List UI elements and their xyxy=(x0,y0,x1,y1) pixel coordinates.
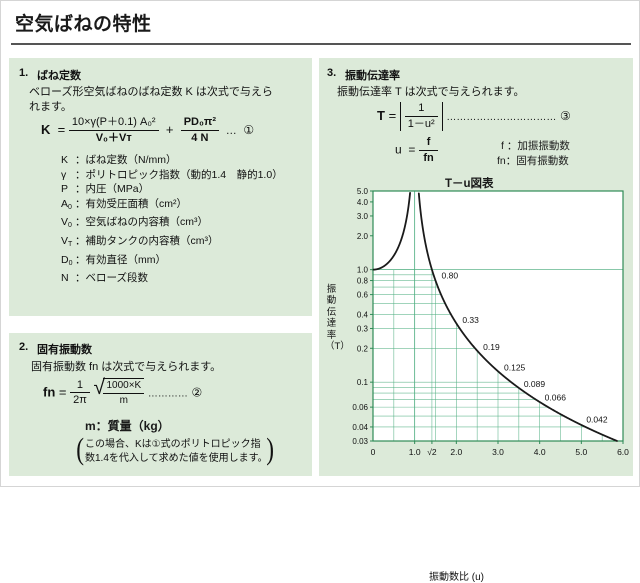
variable-symbol: K xyxy=(61,153,75,168)
chart-x-tick-label: 0 xyxy=(371,447,376,457)
equation-2: fn = 1 2π 1000×K m ………… ② xyxy=(43,378,202,408)
plus-sign: + xyxy=(162,122,177,137)
chart-y-tick-label: 0.06 xyxy=(352,403,368,412)
equation-2-radicand: 1000×K m xyxy=(103,378,144,407)
chart-x-axis-label: 振動数比 (u) xyxy=(429,568,484,583)
chart-x-tick-label: 2.0 xyxy=(450,447,462,457)
variable-definition-item: A0：有効受圧面積（cm²） xyxy=(61,197,283,216)
equation-2-prefactor-numerator: 1 xyxy=(70,379,90,394)
section-2-lead: 固有振動数 fn は次式で与えられます。 xyxy=(31,358,221,374)
variable-description: ：有効受圧面積（cm²） xyxy=(75,198,187,210)
variable-definition-item: D0：有効直径（mm） xyxy=(61,253,283,272)
equation-3-lhs: T xyxy=(377,108,385,123)
variable-description: ：内圧（MPa） xyxy=(75,183,149,195)
chart-annotation-label: 0.089 xyxy=(524,379,546,389)
equation-u-lhs: u xyxy=(395,143,402,157)
variable-symbol: V0 xyxy=(61,215,75,234)
section-1-lead-line1: ベローズ形空気ばねのばね定数 K は次式で与えら xyxy=(29,83,273,99)
chart-y-tick-label: 2.0 xyxy=(357,232,369,241)
note-line2: 数1.4を代入して求めた値を使用します。 xyxy=(85,452,268,465)
section-1-number: 1. xyxy=(19,67,28,79)
variable-symbol: VT xyxy=(61,234,75,253)
equation-3-fraction: 1 1－u² xyxy=(405,102,438,131)
variable-symbol: D0 xyxy=(61,253,75,272)
equation-u-ratio: u = f fn xyxy=(395,136,438,165)
t-u-chart: T－u図表 振動伝達率（T） 振動数比 (u) T = 1 1 − u² 5.0… xyxy=(319,173,633,473)
chart-y-tick-label: 0.03 xyxy=(352,437,368,446)
equation-1-term2-numerator: PD₀π² xyxy=(181,116,219,131)
equation-3-label: ③ xyxy=(560,109,571,123)
chart-y-tick-label: 0.1 xyxy=(357,378,369,387)
equation-2-sqrt-numerator: 1000×K xyxy=(103,380,144,394)
equation-3-absolute-value: 1 1－u² xyxy=(400,102,443,131)
section-spring-constant: 1. ばね定数 ベローズ形空気ばねのばね定数 K は次式で与えら れます。 K … xyxy=(9,58,312,316)
equation-3: T = 1 1－u² …………………………… ③ xyxy=(377,102,571,131)
equation-1-term1-numerator: 10×γ(P＋0.1) A₀² xyxy=(69,116,159,131)
chart-x-tick-label: 4.0 xyxy=(534,447,546,457)
variable-definition-item: N：ベローズ段数 xyxy=(61,271,283,286)
section-3-number: 3. xyxy=(327,67,336,79)
equation-3-dots: …………………………… xyxy=(446,112,556,123)
equation-u-fraction: f fn xyxy=(419,136,439,165)
chart-y-tick-label: 0.2 xyxy=(357,344,369,353)
chart-annotation-label: 0.042 xyxy=(586,415,608,425)
document-page: 空気ばねの特性 1. ばね定数 ベローズ形空気ばねのばね定数 K は次式で与えら… xyxy=(0,0,640,487)
equation-1-term1-denominator: V₀＋Vᴛ xyxy=(69,131,159,145)
variable-definition-item: P：内圧（MPa） xyxy=(61,182,283,197)
equals-sign-2: = xyxy=(59,385,67,400)
chart-x-tick-label: 1.0 xyxy=(409,447,421,457)
definition-f: f ：加振振動数 xyxy=(501,138,570,153)
definition-fn: fn：固有振動数 xyxy=(497,153,569,168)
variable-definition-item: VT：補助タンクの内容積（cm³） xyxy=(61,234,283,253)
chart-x-tick-label: 3.0 xyxy=(492,447,504,457)
chart-canvas: 5.04.03.02.01.00.80.60.40.30.20.10.060.0… xyxy=(319,173,633,473)
note-line1: この場合、Kは①式のポリトロピック指 xyxy=(85,438,261,451)
variable-definition-item: V0：空気ばねの内容積（cm³） xyxy=(61,215,283,234)
section-1-title: ばね定数 xyxy=(37,67,81,83)
variable-description: ：ポリトロピック指数（動的1.4 静的1.0） xyxy=(75,169,283,181)
chart-y-tick-label: 0.8 xyxy=(357,277,369,286)
variable-symbol: γ xyxy=(61,168,75,183)
chart-annotation-label: 0.33 xyxy=(462,315,479,325)
section-3-title: 振動伝達率 xyxy=(345,67,400,83)
equation-u-numerator: f xyxy=(419,136,439,151)
note-paren-left: ( xyxy=(76,433,84,464)
variable-description: ：空気ばねの内容積（cm³） xyxy=(75,216,208,228)
chart-y-tick-label: 4.0 xyxy=(357,198,369,207)
chart-annotation-label: 0.80 xyxy=(442,271,459,281)
variable-definition-list: K：ばね定数（N/mm）γ：ポリトロピック指数（動的1.4 静的1.0）P：内圧… xyxy=(61,153,283,286)
section-2-title: 固有振動数 xyxy=(37,341,92,357)
page-title: 空気ばねの特性 xyxy=(15,9,152,36)
equation-2-dots: ………… xyxy=(148,389,188,400)
equation-2-prefactor-denominator: 2π xyxy=(70,393,90,407)
chart-y-tick-label: 1.0 xyxy=(357,266,369,275)
variable-description: ：有効直径（mm） xyxy=(75,254,166,266)
chart-y-tick-label: 0.3 xyxy=(357,324,369,333)
section-natural-frequency: 2. 固有振動数 固有振動数 fn は次式で与えられます。 fn = 1 2π … xyxy=(9,333,312,476)
variable-description: ：ベローズ段数 xyxy=(75,272,148,284)
variable-description: ：ばね定数（N/mm） xyxy=(75,154,177,166)
variable-symbol: P xyxy=(61,182,75,197)
equation-2-prefactor: 1 2π xyxy=(70,379,90,408)
equation-1-lhs: K xyxy=(41,122,50,137)
chart-annotation-label: 0.19 xyxy=(483,342,500,352)
equation-3-denominator: 1－u² xyxy=(405,117,438,131)
equation-1-term1: 10×γ(P＋0.1) A₀² V₀＋Vᴛ xyxy=(69,116,159,145)
chart-y-tick-label: 0.4 xyxy=(357,310,369,319)
section-transmissibility: 3. 振動伝達率 振動伝達率 T は次式で与えられます。 T = 1 1－u² … xyxy=(319,58,633,476)
variable-symbol: N xyxy=(61,271,75,286)
chart-x-tick-label: √2 xyxy=(427,447,437,457)
chart-y-tick-label: 3.0 xyxy=(357,212,369,221)
equals-sign: = xyxy=(54,122,65,137)
equation-1-dots: … xyxy=(223,125,240,137)
equation-1-term2: PD₀π² 4 N xyxy=(181,116,219,145)
equation-2-lhs: fn xyxy=(43,385,55,400)
equation-2-sqrt: 1000×K m xyxy=(93,378,144,407)
equation-2-sqrt-fraction: 1000×K m xyxy=(103,380,144,407)
page-header: 空気ばねの特性 xyxy=(1,1,640,48)
equation-2-sqrt-denominator: m xyxy=(103,394,144,407)
equals-sign-u: = xyxy=(405,143,415,157)
section-2-number: 2. xyxy=(19,341,28,353)
chart-y-tick-label: 5.0 xyxy=(357,187,369,196)
variable-symbol: A0 xyxy=(61,197,75,216)
section-1-lead-line2: れます。 xyxy=(29,98,72,114)
equation-1-term2-denominator: 4 N xyxy=(181,131,219,145)
equation-u-denominator: fn xyxy=(419,151,439,165)
chart-annotation-label: 0.066 xyxy=(545,392,567,402)
chart-y-tick-label: 0.6 xyxy=(357,291,369,300)
chart-x-tick-label: 6.0 xyxy=(617,447,629,457)
equation-1-label: ① xyxy=(243,123,254,137)
chart-x-tick-label: 5.0 xyxy=(575,447,587,457)
equation-1: K = 10×γ(P＋0.1) A₀² V₀＋Vᴛ + PD₀π² 4 N … … xyxy=(41,116,254,145)
chart-y-tick-label: 0.04 xyxy=(352,423,368,432)
header-divider xyxy=(11,43,631,45)
variable-definition-item: K：ばね定数（N/mm） xyxy=(61,153,283,168)
section-3-lead: 振動伝達率 T は次式で与えられます。 xyxy=(337,83,525,99)
variable-description: ：補助タンクの内容積（cm³） xyxy=(75,235,219,247)
chart-annotation-label: 0.125 xyxy=(504,362,526,372)
equation-3-numerator: 1 xyxy=(405,102,438,117)
equals-sign-3: = xyxy=(389,108,397,123)
mass-definition: m：質量（kg） xyxy=(85,417,170,434)
variable-definition-item: γ：ポリトロピック指数（動的1.4 静的1.0） xyxy=(61,168,283,183)
equation-2-label: ② xyxy=(191,386,202,400)
